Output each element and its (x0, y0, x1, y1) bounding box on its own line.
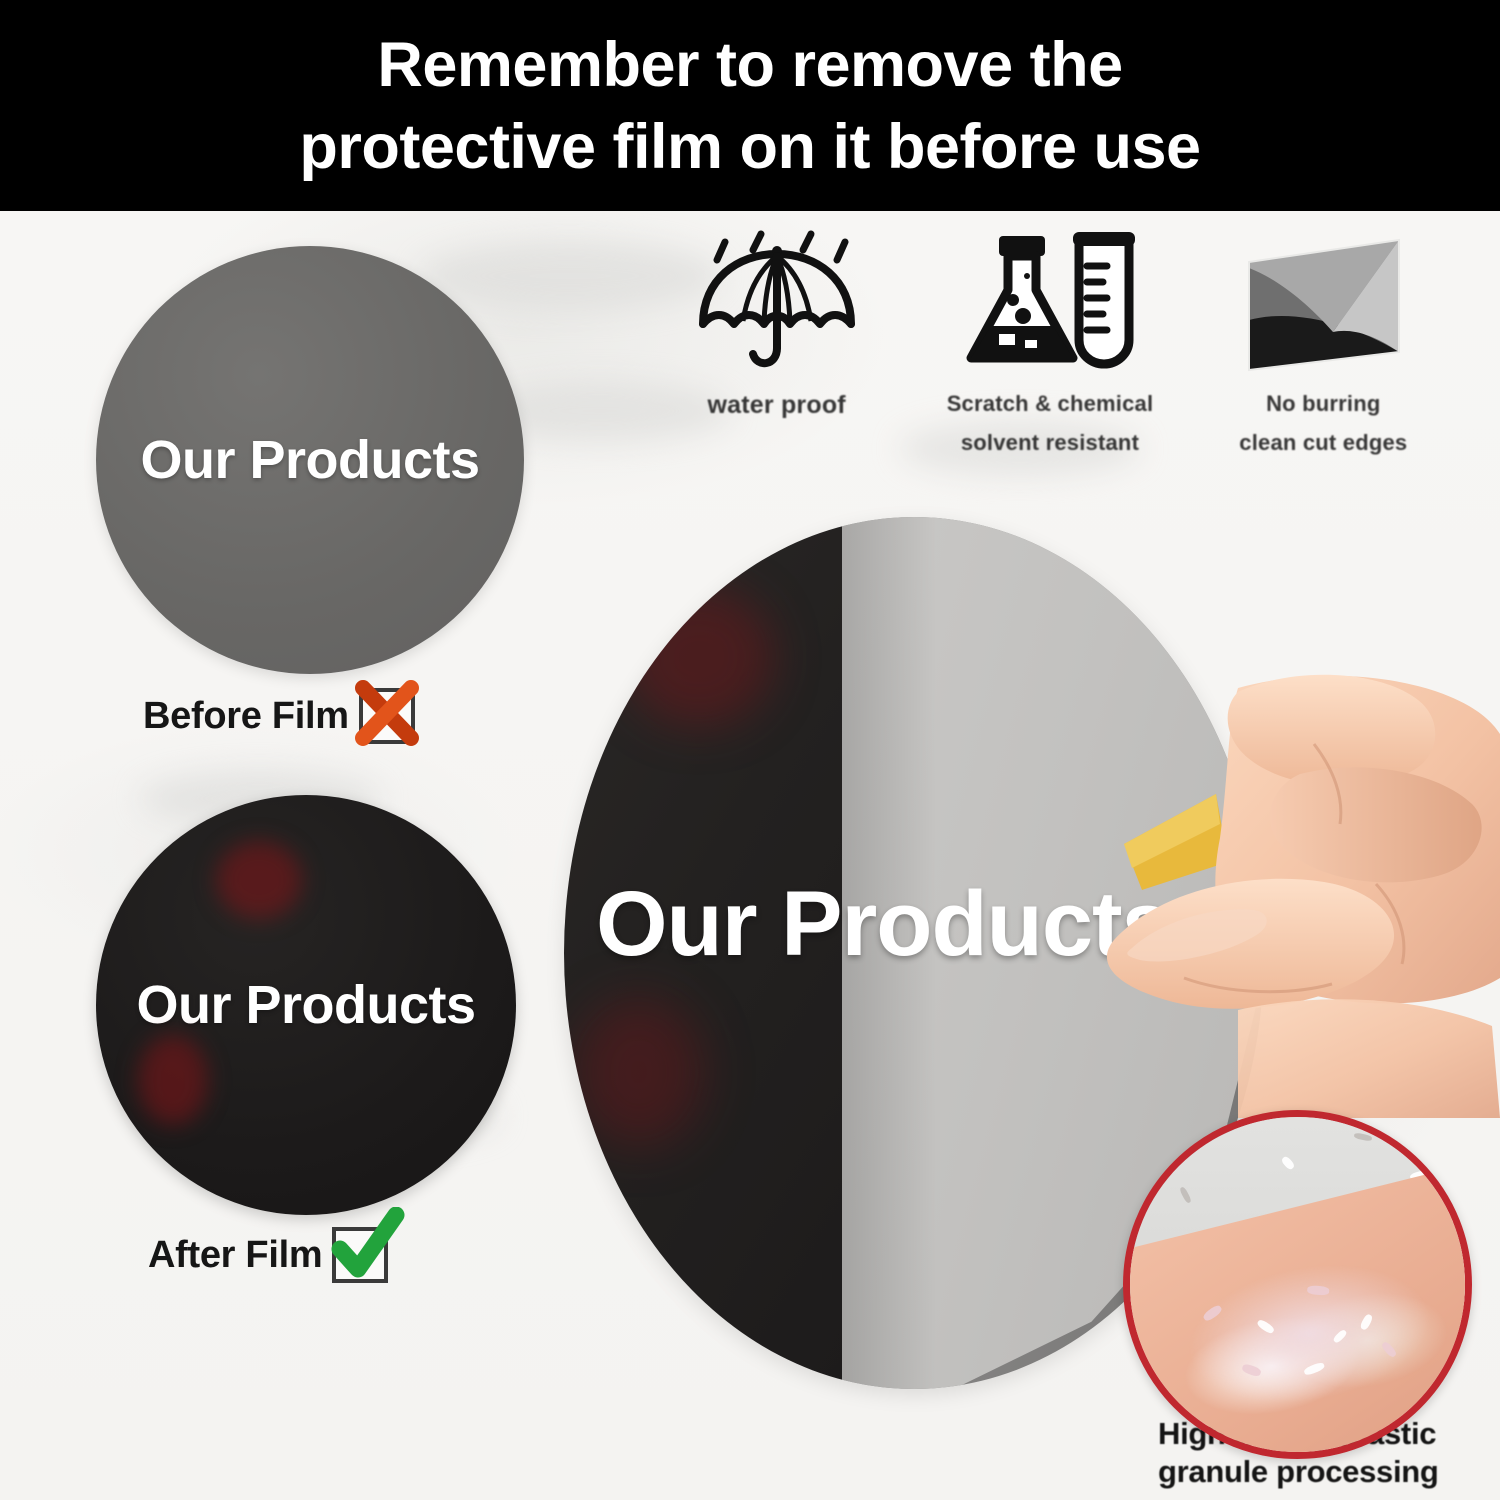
feature-chemical-resistant: Scratch & chemical solvent resistant (913, 228, 1186, 458)
panel-red-ghost-mark (624, 587, 774, 727)
after-film-circle-label: Our Products (136, 974, 475, 1036)
hand-peeling-film-illustration (1088, 648, 1500, 1118)
after-film-checkbox (332, 1227, 388, 1283)
feature-clean-cut-edges: No burring clean cut edges (1187, 228, 1460, 458)
panel-red-ghost-mark (574, 997, 704, 1147)
granule-closeup-inset (1123, 1110, 1472, 1459)
after-film-caption: After Film (148, 1234, 322, 1277)
flask-test-tube-icon (961, 228, 1139, 378)
before-film-circle-label: Our Products (140, 429, 479, 491)
feature-chemical-label-line1: Scratch & chemical (947, 390, 1154, 417)
feature-waterproof: water proof (640, 228, 913, 458)
header-banner: Remember to remove the protective film o… (0, 0, 1500, 211)
feature-edges-label-line1: No burring (1266, 390, 1380, 417)
feature-waterproof-label: water proof (708, 390, 846, 420)
granule-caption-line2: granule processing (1158, 1453, 1458, 1491)
lower-finger (1238, 999, 1500, 1118)
circle-red-ghost-mark (216, 841, 302, 919)
header-line-2: protective film on it before use (299, 106, 1200, 188)
product-infographic: Remember to remove the protective film o… (0, 0, 1500, 1500)
before-film-checkbox (359, 688, 415, 744)
film-tab-pinched (1124, 794, 1228, 890)
after-film-product-circle: Our Products (96, 795, 516, 1215)
before-film-caption: Before Film (143, 695, 349, 738)
cross-mark-icon (363, 688, 411, 738)
feature-edges-label-line2: clean cut edges (1239, 429, 1407, 456)
feature-chemical-label-line2: solvent resistant (961, 429, 1139, 456)
peeling-film-panel-icon (1233, 228, 1413, 378)
after-film-caption-row: After Film (148, 1227, 388, 1283)
before-film-product-circle: Our Products (96, 246, 524, 674)
umbrella-rain-icon (691, 228, 863, 378)
circle-red-ghost-mark (138, 1035, 208, 1125)
before-film-caption-row: Before Film (143, 688, 415, 744)
check-mark-icon (340, 1215, 396, 1269)
header-line-1: Remember to remove the (377, 24, 1122, 106)
feature-icons-row: water proof (640, 228, 1460, 458)
